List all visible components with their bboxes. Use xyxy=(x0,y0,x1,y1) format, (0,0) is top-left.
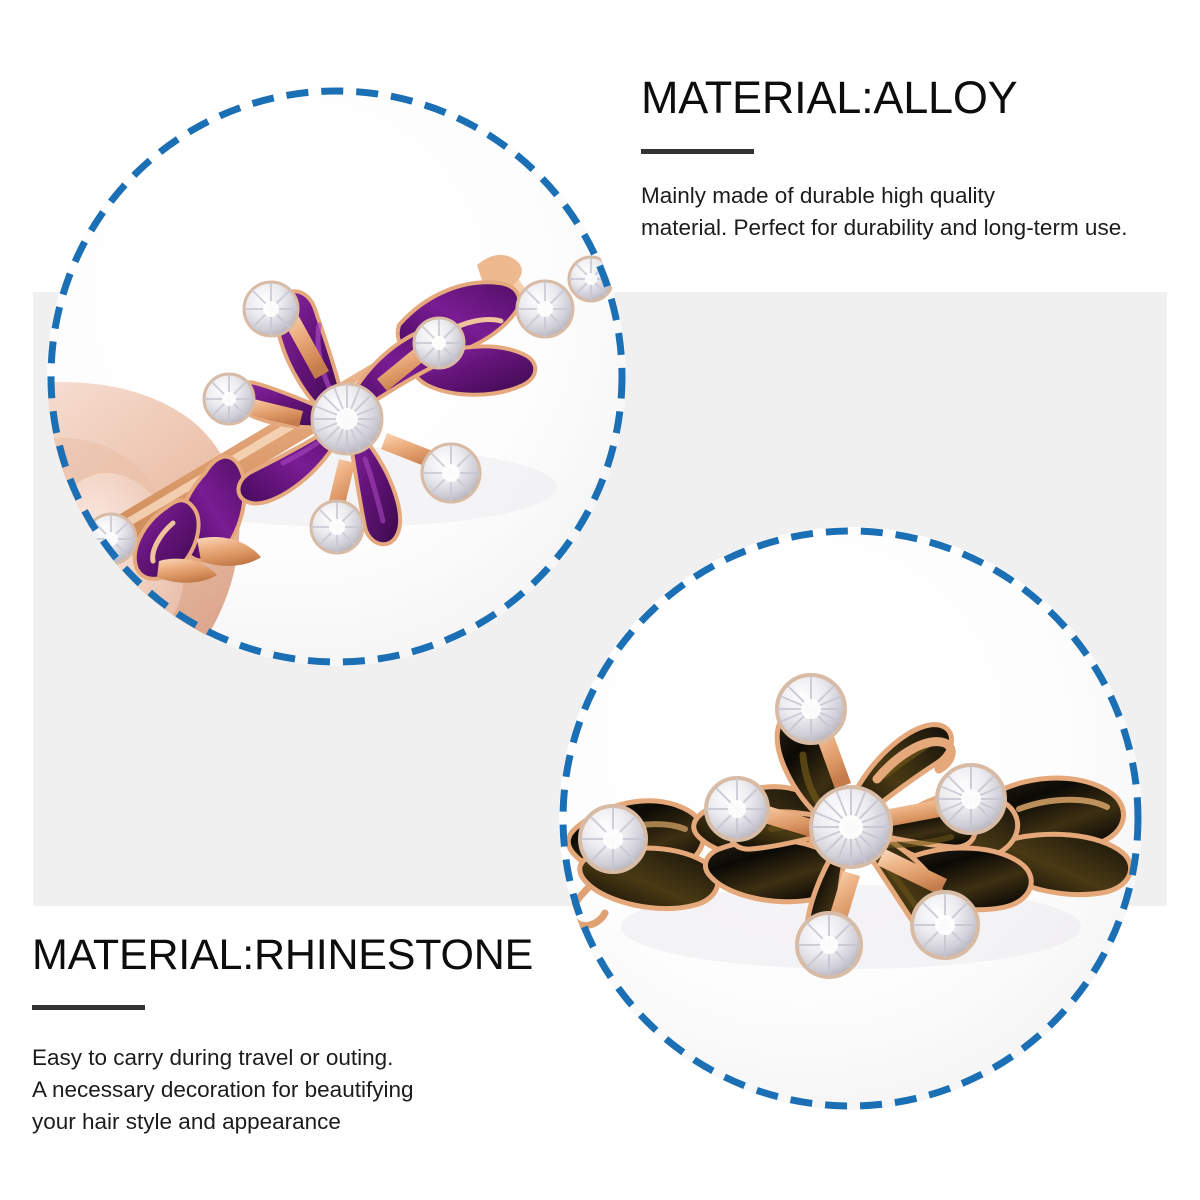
alloy-heading: MATERIAL:ALLOY xyxy=(641,74,1181,122)
alloy-divider xyxy=(641,149,754,154)
photo-purple-barrette xyxy=(47,87,626,666)
alloy-description: Mainly made of durable high quality mate… xyxy=(641,180,1181,244)
purple-barrette-illustration xyxy=(47,87,626,666)
rhinestone-divider xyxy=(32,1005,145,1010)
text-block-rhinestone: MATERIAL:RHINESTONE Easy to carry during… xyxy=(32,933,592,1160)
black-barrette-illustration xyxy=(559,527,1142,1110)
rhinestone-heading: MATERIAL:RHINESTONE xyxy=(32,933,592,979)
photo-black-barrette-image xyxy=(559,527,1142,1110)
photo-purple-barrette-image xyxy=(47,87,626,666)
photo-black-barrette xyxy=(559,527,1142,1110)
rhinestone-description: Easy to carry during travel or outing. A… xyxy=(32,1042,592,1138)
text-block-alloy: MATERIAL:ALLOY Mainly made of durable hi… xyxy=(641,74,1181,266)
product-infographic: MATERIAL:ALLOY Mainly made of durable hi… xyxy=(0,0,1200,1200)
